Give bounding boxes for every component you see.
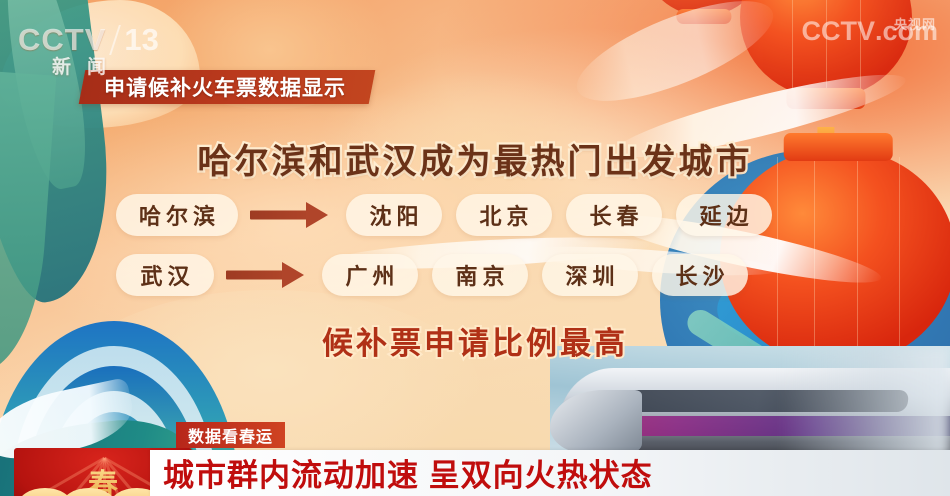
destination-city-pill: 广州	[322, 254, 418, 296]
destination-city-pill: 南京	[432, 254, 528, 296]
watermark-brand: CCTV	[801, 16, 875, 47]
top-banner-text: 申请候补火车票数据显示	[104, 72, 346, 102]
lower-third: 数据看春运 城市群内流动加速 呈双向火热状态	[0, 424, 950, 496]
route-row: 哈尔滨 沈阳 北京 长春 延边	[0, 192, 950, 238]
lower-third-tag: 数据看春运	[176, 422, 285, 448]
subtitle: 候补票申请比例最高	[0, 318, 950, 363]
top-banner: 申请候补火车票数据显示	[79, 70, 376, 104]
cctv-com-watermark: CCTV .com	[801, 16, 938, 47]
cctv-channel-subtitle: 新闻	[52, 52, 122, 79]
logo-slash-icon	[110, 25, 122, 55]
destination-city-pill: 延边	[676, 194, 772, 236]
destination-city-pill: 北京	[456, 194, 552, 236]
cctv-channel-number: 13	[124, 22, 158, 58]
origin-city-pill: 哈尔滨	[116, 194, 238, 236]
destination-city-pill: 沈阳	[346, 194, 442, 236]
lower-third-title: 城市群内流动加速 呈双向火热状态	[163, 450, 653, 494]
watermark-domain: .com	[875, 16, 938, 47]
broadcast-screenshot: 春 CCTV 13 新闻 CCTV .com 央视网 申请候补火车票数据显示 哈…	[0, 0, 950, 496]
destination-city-pill: 长沙	[652, 254, 748, 296]
headline: 哈尔滨和武汉成为最热门出发城市	[0, 134, 950, 183]
destination-city-pill: 深圳	[542, 254, 638, 296]
right-arrow-icon	[226, 254, 310, 296]
lower-third-tag-label: 数据看春运	[188, 423, 273, 447]
right-arrow-icon	[250, 194, 334, 236]
origin-city-pill: 武汉	[116, 254, 214, 296]
route-list: 哈尔滨 沈阳 北京 长春 延边 武汉 广州 南京 深圳 长沙	[0, 192, 950, 312]
route-row: 武汉 广州 南京 深圳 长沙	[0, 252, 950, 298]
destination-city-pill: 长春	[566, 194, 662, 236]
